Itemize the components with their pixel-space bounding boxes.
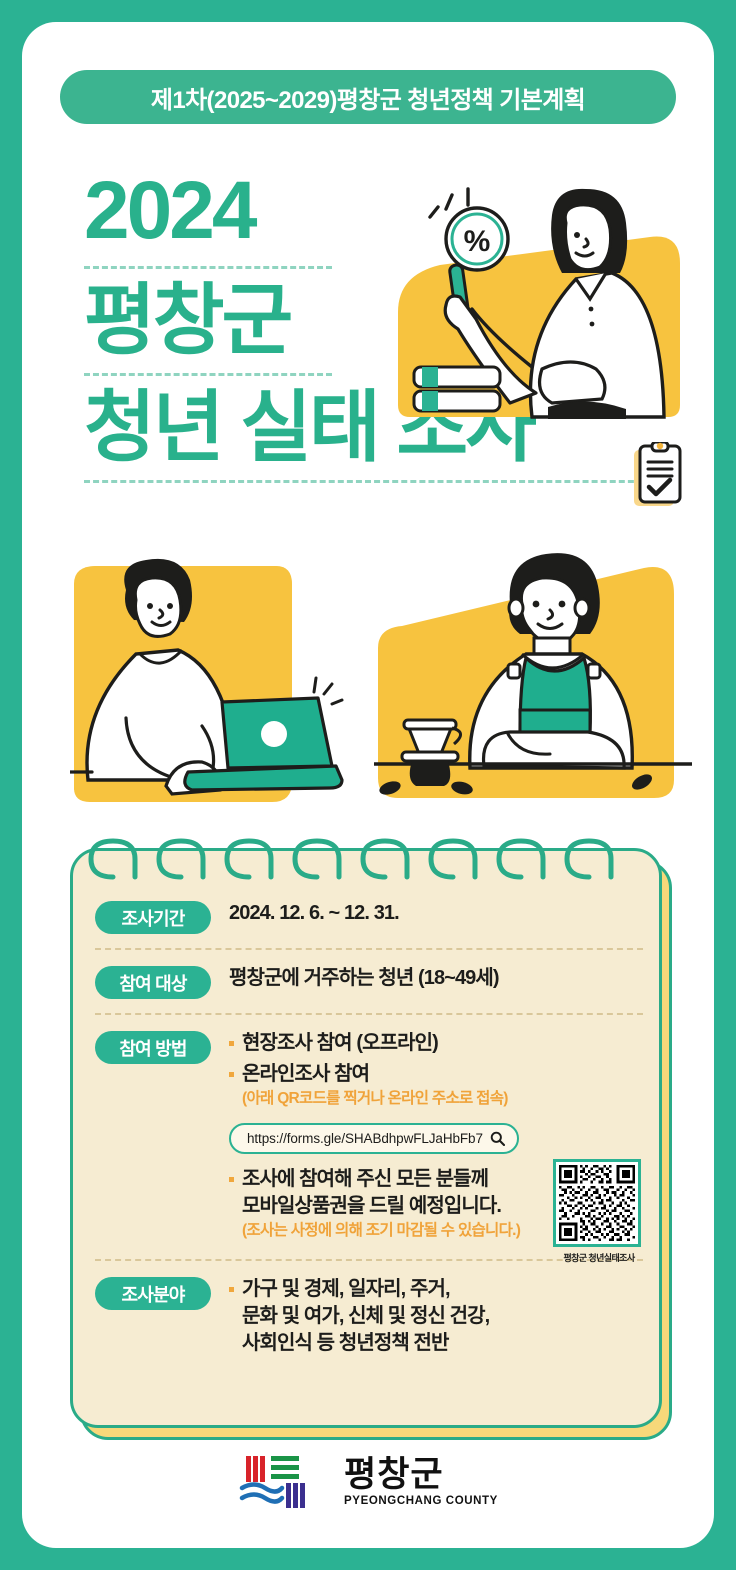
info-row-target-audience: 참여 대상 평창군에 거주하는 청년 (18~49세) xyxy=(95,948,643,1013)
logo-name-en: PYEONGCHANG COUNTY xyxy=(344,1495,498,1507)
poster-panel: 제1차(2025~2029)평창군 청년정책 기본계획 2024 평창군 청년 … xyxy=(22,22,714,1548)
bullet-survey-fields: 가구 및 경제, 일자리, 주거, 문화 및 여가, 신체 및 정신 건강, 사… xyxy=(229,1276,643,1357)
title-divider-3 xyxy=(84,480,652,483)
label-survey-period: 조사기간 xyxy=(95,901,211,934)
survey-field-line-3: 사회인식 등 청년정책 전반 xyxy=(242,1330,489,1357)
logo-text-block: 평창군 PYEONGCHANG COUNTY xyxy=(344,1457,498,1507)
bullet-offline-survey: 현장조사 참여 (오프라인) xyxy=(229,1030,643,1057)
bullet-online-survey: 온라인조사 참여 (아래 QR코드를 찍거나 온라인 주소로 접속) xyxy=(229,1061,643,1109)
survey-field-line-2: 문화 및 여가, 신체 및 정신 건강, xyxy=(242,1303,489,1330)
svg-text:%: % xyxy=(464,225,491,258)
bullet-online-survey-text: 온라인조사 참여 xyxy=(242,1063,369,1085)
title-divider-1 xyxy=(84,266,332,269)
barista-with-apron-illustration xyxy=(374,542,692,812)
info-card: 조사기간 2024. 12. 6. ~ 12. 31. 참여 대상 평창군에 거… xyxy=(70,848,670,1440)
info-row-survey-fields: 조사분야 가구 및 경제, 일자리, 주거, 문화 및 여가, 신체 및 정신 … xyxy=(95,1259,643,1375)
bullet-dot-icon xyxy=(229,1177,234,1182)
logo-name-kr: 평창군 xyxy=(344,1457,444,1492)
label-how-to-participate: 참여 방법 xyxy=(95,1031,211,1064)
bullet-gift-line-2: 모바일상품권을 드릴 예정입니다. xyxy=(242,1193,520,1220)
clipboard-check-icon xyxy=(630,442,682,512)
qr-code-caption: 평창군 청년실태조사 xyxy=(553,1251,645,1264)
bullet-dot-icon xyxy=(229,1287,234,1292)
value-target-audience-body: 평창군에 거주하는 청년 (18~49세) xyxy=(229,964,643,992)
header-pill-label: 제1차(2025~2029)평창군 청년정책 기본계획 xyxy=(151,80,585,115)
header-pill: 제1차(2025~2029)평창군 청년정책 기본계획 xyxy=(60,70,676,124)
title-divider-2 xyxy=(84,373,332,376)
value-survey-fields-body: 가구 및 경제, 일자리, 주거, 문화 및 여가, 신체 및 정신 건강, 사… xyxy=(229,1275,643,1361)
label-target-audience: 참여 대상 xyxy=(95,966,211,999)
bullet-dot-icon xyxy=(229,1072,234,1077)
bullet-survey-fields-group: 가구 및 경제, 일자리, 주거, 문화 및 여가, 신체 및 정신 건강, 사… xyxy=(242,1276,489,1357)
bullet-online-survey-note: (아래 QR코드를 찍거나 온라인 주소로 접속) xyxy=(242,1089,508,1109)
qr-code-block[interactable]: 평창군 청년실태조사 xyxy=(553,1159,645,1264)
survey-url-chip[interactable]: https://forms.gle/SHABdhpwFLJaHbFb7 xyxy=(229,1123,519,1154)
search-icon xyxy=(490,1131,505,1146)
footer-logo: 평창군 PYEONGCHANG COUNTY xyxy=(22,1454,714,1510)
survey-url-text: https://forms.gle/SHABdhpwFLJaHbFb7 xyxy=(247,1131,483,1146)
value-target-audience: 평창군에 거주하는 청년 (18~49세) xyxy=(229,965,643,992)
bullet-dot-icon xyxy=(229,1041,234,1046)
value-survey-period-body: 2024. 12. 6. ~ 12. 31. xyxy=(229,899,643,927)
survey-field-line-1: 가구 및 경제, 일자리, 주거, xyxy=(242,1276,489,1303)
label-survey-fields: 조사분야 xyxy=(95,1277,211,1310)
qr-code-icon[interactable] xyxy=(553,1159,641,1247)
bullet-offline-survey-text: 현장조사 참여 (오프라인) xyxy=(242,1030,438,1057)
bullet-gift-line-1: 조사에 참여해 주신 모든 분들께 xyxy=(242,1166,520,1193)
bullet-gift-note: (조사는 사정에 의해 조기 마감될 수 있습니다.) xyxy=(242,1221,520,1241)
bullet-gift-group: 조사에 참여해 주신 모든 분들께 모바일상품권을 드릴 예정입니다. (조사는… xyxy=(242,1166,520,1241)
bullet-online-survey-group: 온라인조사 참여 (아래 QR코드를 찍거나 온라인 주소로 접속) xyxy=(242,1061,508,1109)
person-with-laptop-illustration xyxy=(70,550,370,812)
info-card-body: 조사기간 2024. 12. 6. ~ 12. 31. 참여 대상 평창군에 거… xyxy=(70,848,662,1428)
poster-root: 제1차(2025~2029)평창군 청년정책 기본계획 2024 평창군 청년 … xyxy=(0,0,736,1570)
info-rows: 조사기간 2024. 12. 6. ~ 12. 31. 참여 대상 평창군에 거… xyxy=(73,885,665,1375)
woman-with-magnifier-illustration: % xyxy=(380,177,692,427)
value-survey-period: 2024. 12. 6. ~ 12. 31. xyxy=(229,900,643,927)
info-row-survey-period: 조사기간 2024. 12. 6. ~ 12. 31. xyxy=(95,885,643,948)
pyeongchang-county-logo-icon xyxy=(238,1454,324,1510)
spiral-binding-icon xyxy=(73,825,673,885)
